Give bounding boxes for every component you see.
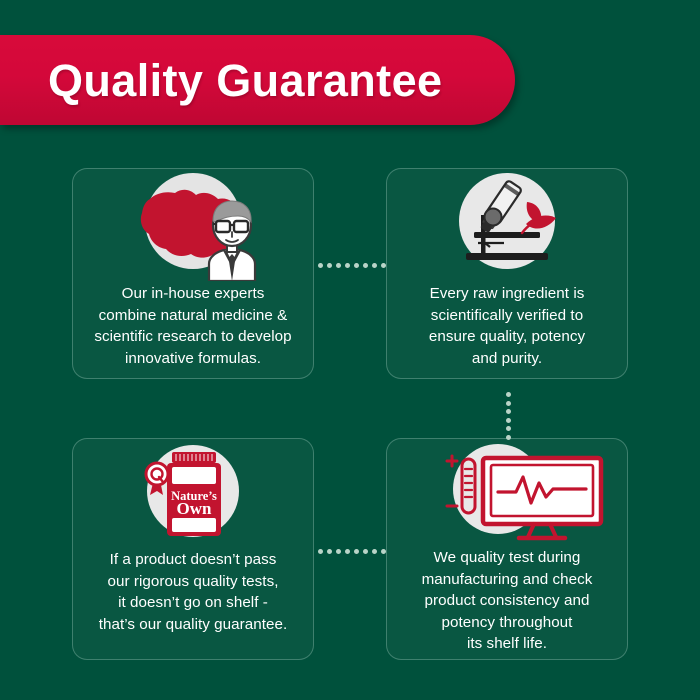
feature-card-in-house-experts[interactable]: Our in-house experts combine natural med…: [72, 168, 314, 379]
connector-dot: [318, 263, 323, 268]
microscope-leaf-icon: [386, 169, 628, 281]
australia-map-scientist-icon: [72, 169, 314, 281]
connector-dot: [506, 435, 511, 440]
connector-dot: [363, 549, 368, 554]
banner-shape: Quality Guarantee: [0, 35, 515, 125]
feature-card-text: Our in-house experts combine natural med…: [82, 283, 303, 369]
connector-dot: [336, 263, 341, 268]
connector-dot: [345, 549, 350, 554]
connector-dot: [345, 263, 350, 268]
connector-dot: [506, 401, 511, 406]
feature-card-text: If a product doesn’t pass our rigorous q…: [87, 549, 300, 635]
connector-dot: [381, 263, 386, 268]
connector-dot: [318, 549, 323, 554]
connector-dot: [363, 263, 368, 268]
page-title: Quality Guarantee: [0, 58, 442, 103]
connector-card3-card4: [318, 548, 386, 554]
connector-dot: [506, 409, 511, 414]
connector-dot: [327, 263, 332, 268]
connector-dot: [506, 426, 511, 431]
connector-dot: [354, 263, 359, 268]
connector-dot: [354, 549, 359, 554]
page-title-banner: Quality Guarantee: [0, 35, 515, 125]
connector-dot: [372, 263, 377, 268]
connector-dot: [336, 549, 341, 554]
feature-card-manufacturing-consistency[interactable]: We quality test during manufacturing and…: [386, 438, 628, 660]
feature-card-grid: Our in-house experts combine natural med…: [72, 168, 628, 660]
connector-card2-card4: [505, 392, 511, 440]
connector-dot: [506, 392, 511, 397]
feature-card-quality-testing-shelf[interactable]: Nature’s Own If a product doesn’t pass o…: [72, 438, 314, 660]
bottle-label-line2: Own: [177, 499, 213, 518]
connector-dot: [381, 549, 386, 554]
connector-dot: [506, 418, 511, 423]
connector-dot: [327, 549, 332, 554]
feature-card-text: Every raw ingredient is scientifically v…: [417, 283, 597, 369]
feature-card-raw-ingredient-verification[interactable]: Every raw ingredient is scientifically v…: [386, 168, 628, 379]
feature-card-text: We quality test during manufacturing and…: [410, 547, 605, 655]
connector-dot: [372, 549, 377, 554]
connector-card1-card2: [318, 262, 386, 268]
natures-own-bottle-ribbon-icon: Nature’s Own: [72, 439, 314, 547]
monitor-heartbeat-thermometer-icon: [386, 439, 628, 547]
